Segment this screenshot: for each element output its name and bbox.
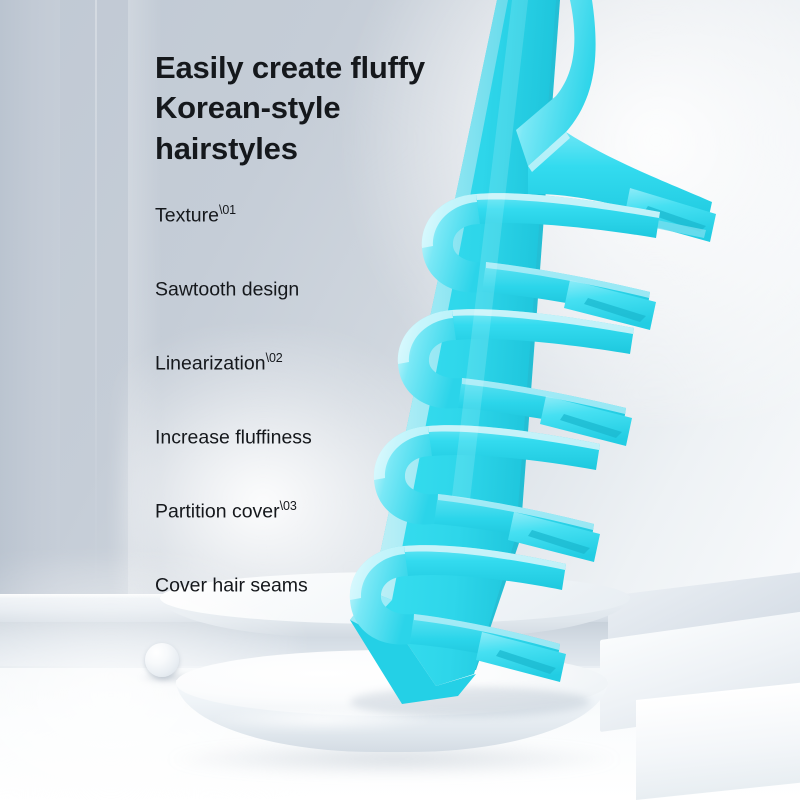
feature-item-2: Sawtooth design — [155, 278, 455, 352]
feature-item-3: Linearization\02 — [155, 352, 455, 426]
feature-label-1: Texture — [155, 205, 219, 227]
feature-label-3: Linearization — [155, 353, 266, 375]
feature-label-4: Increase fluffiness — [155, 427, 312, 449]
feature-item-1: Texture\01 — [155, 204, 455, 278]
feature-item-6: Cover hair seams — [155, 574, 455, 648]
feature-number-5: \03 — [280, 499, 297, 513]
feature-number-3: \02 — [266, 351, 283, 365]
feature-item-5: Partition cover\03 — [155, 500, 455, 574]
feature-label-6: Cover hair seams — [155, 575, 308, 597]
feature-number-1: \01 — [219, 203, 236, 217]
feature-label-5: Partition cover — [155, 501, 280, 523]
comb-contact-shadow — [350, 687, 590, 717]
feature-item-4: Increase fluffiness — [155, 426, 455, 500]
feature-label-2: Sawtooth design — [155, 279, 299, 301]
feature-list: Texture\01 Sawtooth design Linearization… — [155, 204, 455, 648]
product-marketing-image: Easily create fluffy Korean-style hairst… — [0, 0, 800, 800]
page-title: Easily create fluffy Korean-style hairst… — [155, 48, 485, 169]
